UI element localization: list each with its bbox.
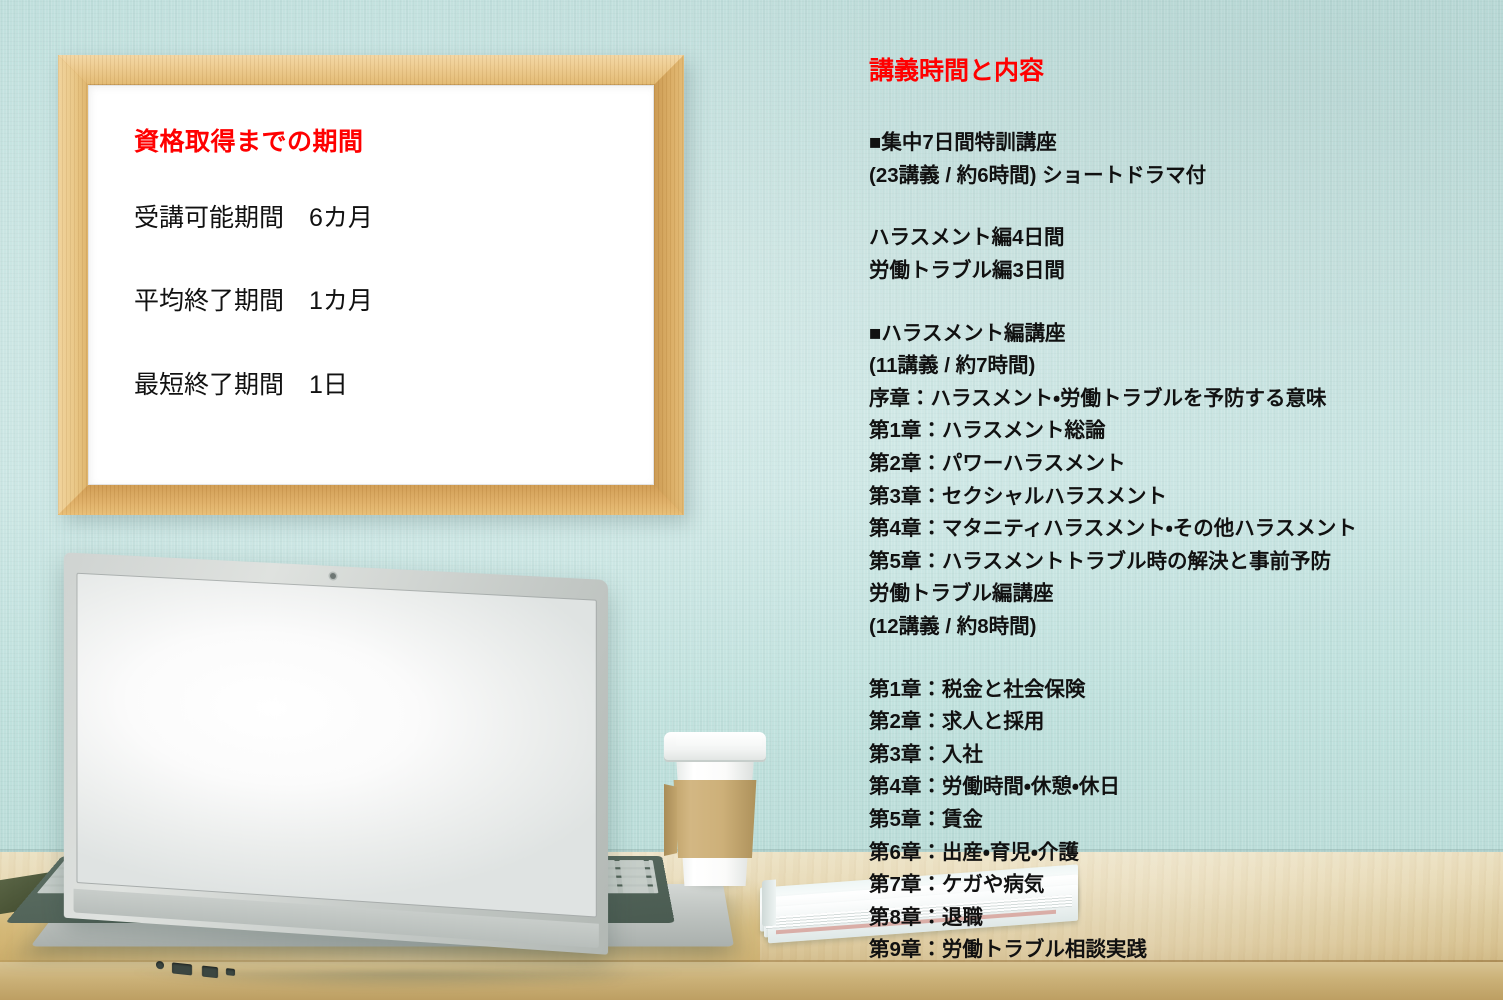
- paper-spine: [762, 879, 776, 926]
- syllabus-line: 労働トラブル編3日間: [869, 255, 1489, 288]
- syllabus-line: 第4章：マタニティハラスメント・その他ハラスメント: [869, 513, 1489, 546]
- frame-bar-left: [58, 55, 88, 515]
- syllabus-line: 序章：ハラスメント・労働トラブルを予防する意味: [869, 383, 1489, 416]
- coffee-cup: [660, 728, 770, 893]
- syllabus-line: ハラスメント編4日間: [869, 222, 1489, 255]
- webcam-icon: [330, 573, 336, 579]
- syllabus-title: 講義時間と内容: [869, 56, 1489, 87]
- cup-sleeve-tab: [664, 784, 677, 856]
- port-usb-icon: [172, 962, 192, 975]
- port-hdmi-icon: [202, 966, 218, 979]
- whiteboard-row-2: 平均終了期間 1カ月: [134, 286, 628, 317]
- wooden-picture-frame: 資格取得までの期間 受講可能期間 6カ月 平均終了期間 1カ月 最短終了期間 1…: [58, 55, 684, 515]
- syllabus-line: 第7章：ケガや病気: [869, 869, 1489, 902]
- whiteboard-content: 資格取得までの期間 受講可能期間 6カ月 平均終了期間 1カ月 最短終了期間 1…: [134, 127, 628, 459]
- syllabus-line: ■ハラスメント編講座: [869, 318, 1489, 351]
- syllabus-line: 第4章：労働時間・休憩・休日: [869, 771, 1489, 804]
- cup-lid-dome: [676, 732, 762, 746]
- syllabus-line: 第8章：退職: [869, 902, 1489, 935]
- syllabus-line: 第1章：ハラスメント総論: [869, 415, 1489, 448]
- port-round-icon: [156, 961, 164, 970]
- syllabus-block-intensive-course: ■集中7日間特訓講座 (23講義 / 約6時間) ショートドラマ付: [869, 127, 1489, 192]
- whiteboard-row-1: 受講可能期間 6カ月: [134, 203, 628, 234]
- laptop: [38, 566, 738, 986]
- syllabus-line: 第2章：パワーハラスメント: [869, 448, 1489, 481]
- syllabus-line: 第3章：セクシャルハラスメント: [869, 481, 1489, 514]
- syllabus-line: 第2章：求人と採用: [869, 706, 1489, 739]
- scene-root: 資格取得までの期間 受講可能期間 6カ月 平均終了期間 1カ月 最短終了期間 1…: [0, 0, 1503, 1000]
- whiteboard-panel: 資格取得までの期間 受講可能期間 6カ月 平均終了期間 1カ月 最短終了期間 1…: [88, 85, 654, 485]
- frame-bar-right: [654, 55, 684, 515]
- whiteboard-title: 資格取得までの期間: [134, 127, 628, 157]
- syllabus-line: 第1章：税金と社会保険: [869, 674, 1489, 707]
- syllabus-line: (11講義 / 約7時間): [869, 350, 1489, 383]
- laptop-lid: [64, 552, 608, 954]
- syllabus-line: (12講義 / 約8時間): [869, 611, 1489, 644]
- syllabus-block-harassment-course: ■ハラスメント編講座 (11講義 / 約7時間) 序章：ハラスメント・労働トラブ…: [869, 318, 1489, 644]
- syllabus-line: 第3章：入社: [869, 739, 1489, 772]
- syllabus-line: ■集中7日間特訓講座: [869, 127, 1489, 160]
- syllabus-line: 第5章：賃金: [869, 804, 1489, 837]
- syllabus-column: 講義時間と内容 ■集中7日間特訓講座 (23講義 / 約6時間) ショートドラマ…: [869, 56, 1489, 967]
- syllabus-line: 第6章：出産・育児・介護: [869, 837, 1489, 870]
- cup-sleeve: [671, 780, 759, 858]
- port-lock-icon: [226, 968, 235, 976]
- frame-bar-top: [58, 55, 684, 85]
- laptop-screen: [76, 573, 596, 918]
- frame-bar-bottom: [58, 485, 684, 515]
- syllabus-block-course-days: ハラスメント編4日間 労働トラブル編3日間: [869, 222, 1489, 287]
- syllabus-line: 労働トラブル編講座: [869, 578, 1489, 611]
- syllabus-line: (23講義 / 約6時間) ショートドラマ付: [869, 160, 1489, 193]
- syllabus-block-labor-trouble-chapters: 第1章：税金と社会保険 第2章：求人と採用 第3章：入社 第4章：労働時間・休憩…: [869, 674, 1489, 967]
- cup-lid: [664, 732, 766, 762]
- syllabus-line: 第5章：ハラスメントトラブル時の解決と事前予防: [869, 546, 1489, 579]
- syllabus-line: 第9章：労働トラブル相談実践: [869, 934, 1489, 967]
- whiteboard-row-3: 最短終了期間 1日: [134, 370, 628, 401]
